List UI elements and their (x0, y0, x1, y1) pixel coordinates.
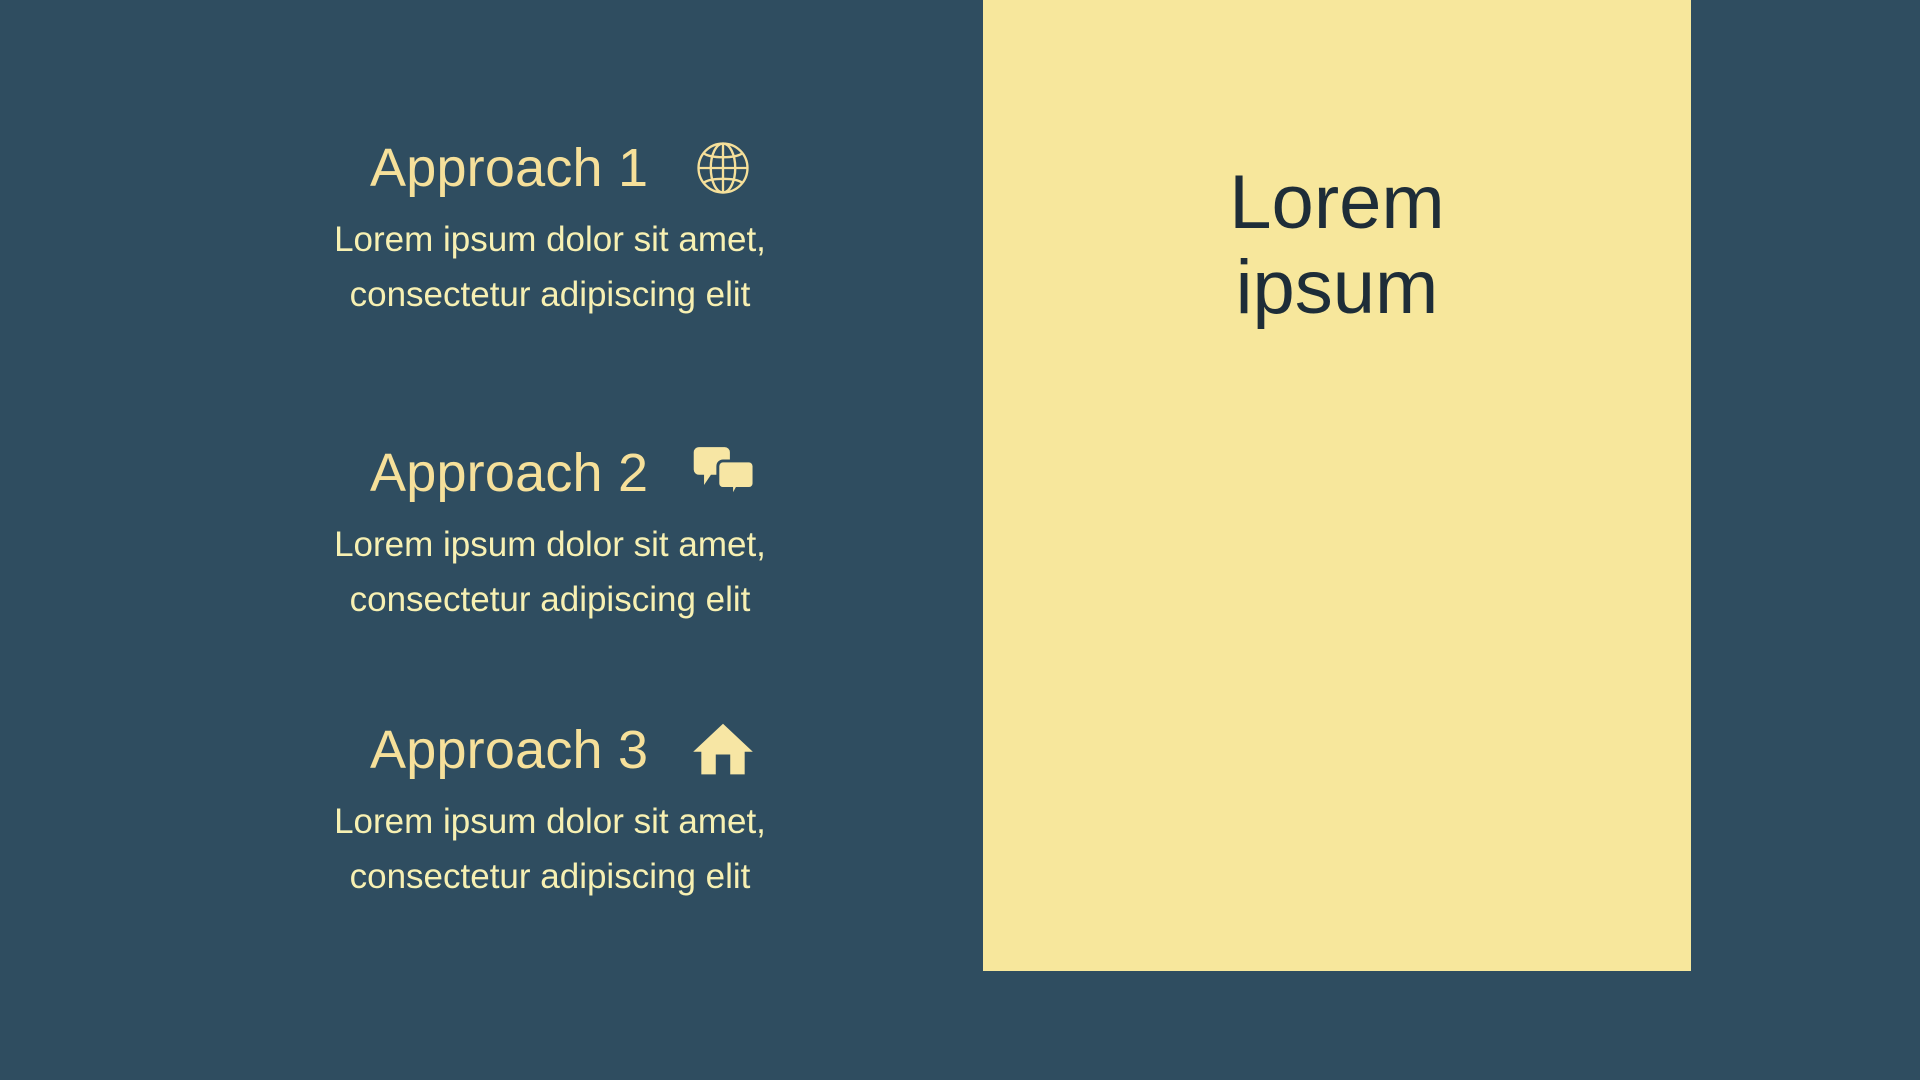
approach-title-1: Approach 1 (370, 141, 648, 195)
approach-description-2-line-1: Lorem ipsum dolor sit amet, (240, 517, 860, 572)
approach-description-3-line-2: consectetur adipiscing elit (240, 849, 860, 904)
approach-description-2-line-2: consectetur adipiscing elit (240, 572, 860, 627)
highlight-panel: Lorem ipsum (983, 0, 1691, 971)
approach-heading-row-1: Approach 1 (240, 130, 1000, 206)
panel-title-line-2: ipsum (983, 245, 1691, 330)
approach-heading-row-3: Approach 3 (240, 712, 1000, 788)
approach-description-1-line-2: consectetur adipiscing elit (240, 267, 860, 322)
approach-description-3: Lorem ipsum dolor sit amet, consectetur … (240, 794, 860, 905)
panel-title-line-1: Lorem (983, 160, 1691, 245)
slide-canvas: Approach 1 Lorem ipsum dolor sit amet, c… (0, 0, 1920, 1080)
approach-title-3: Approach 3 (370, 723, 648, 777)
approach-item-3[interactable]: Approach 3 Lorem ipsum dolor sit amet, c… (240, 712, 1000, 905)
approach-description-2: Lorem ipsum dolor sit amet, consectetur … (240, 517, 860, 628)
approach-description-1-line-1: Lorem ipsum dolor sit amet, (240, 212, 860, 267)
home-icon (692, 719, 754, 781)
panel-title: Lorem ipsum (983, 160, 1691, 330)
globe-icon (692, 137, 754, 199)
approach-item-2[interactable]: Approach 2 Lorem ipsum dolor sit amet, c… (240, 435, 1000, 628)
approach-description-3-line-1: Lorem ipsum dolor sit amet, (240, 794, 860, 849)
approach-list: Approach 1 Lorem ipsum dolor sit amet, c… (0, 0, 983, 1080)
approach-title-2: Approach 2 (370, 446, 648, 500)
approach-heading-row-2: Approach 2 (240, 435, 1000, 511)
approach-item-1[interactable]: Approach 1 Lorem ipsum dolor sit amet, c… (240, 130, 1000, 323)
approach-description-1: Lorem ipsum dolor sit amet, consectetur … (240, 212, 860, 323)
chat-bubbles-icon (692, 442, 754, 504)
